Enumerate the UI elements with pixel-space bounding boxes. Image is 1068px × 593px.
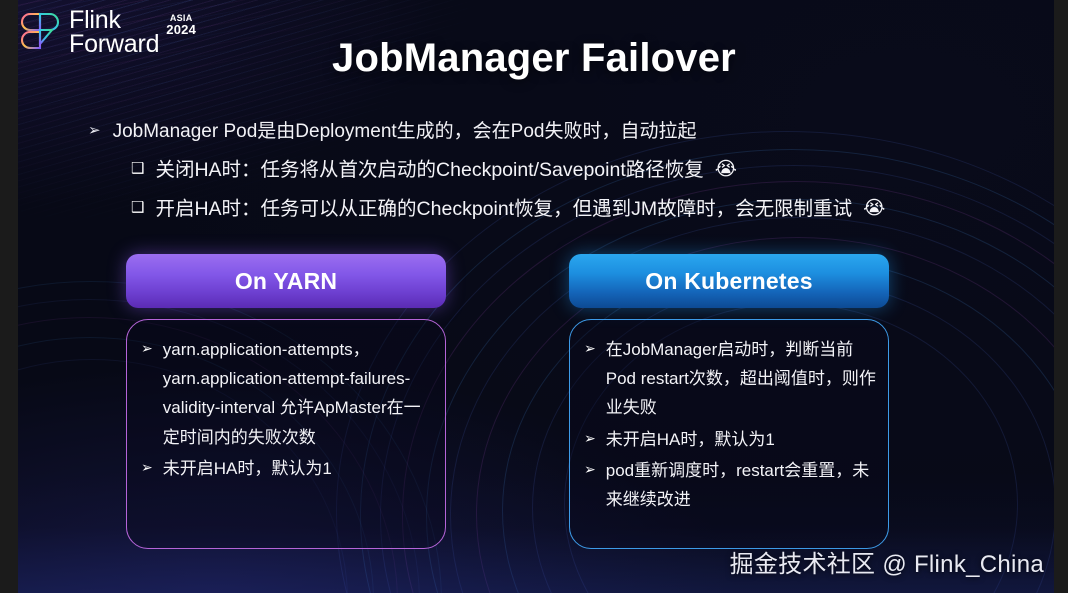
arrow-bullet-icon: ➢ [141,454,153,481]
bullet-level2: ❑ 开启HA时：任务可以从正确的Checkpoint恢复，但遇到JM故障时，会无… [131,197,1008,222]
list-item-text: yarn.application-attempts，yarn.applicati… [163,335,433,452]
arrow-bullet-icon: ➢ [141,335,153,362]
bullet-level2-text: 关闭HA时：任务将从首次启动的Checkpoint/Savepoint路径恢复 [155,158,703,183]
square-bullet-icon: ❑ [131,158,144,180]
crying-face-emoji-icon: 😭 [715,158,737,183]
column-body-yarn: ➢ yarn.application-attempts，yarn.applica… [126,319,446,549]
column-header-yarn: On YARN [126,254,446,308]
brand-badge: ASIA 2024 [166,14,196,36]
watermark: 掘金技术社区 @ Flink_China [730,544,1044,579]
bullet-level2: ❑ 关闭HA时：任务将从首次启动的Checkpoint/Savepoint路径恢… [131,158,1008,183]
bullet-level2-text: 开启HA时：任务可以从正确的Checkpoint恢复，但遇到JM故障时，会无限制… [155,197,852,222]
column-yarn: On YARN ➢ yarn.application-attempts，yarn… [126,254,446,549]
brand-badge-year: 2024 [166,23,196,36]
list-item: ➢ 在JobManager启动时，判断当前Pod restart次数，超出阈值时… [584,335,876,423]
column-kubernetes: On Kubernetes ➢ 在JobManager启动时，判断当前Pod r… [569,254,889,549]
bullet-level1: ➢ JobManager Pod是由Deployment生成的，会在Pod失败时… [88,120,1008,144]
arrow-bullet-icon: ➢ [584,425,596,452]
column-body-kubernetes: ➢ 在JobManager启动时，判断当前Pod restart次数，超出阈值时… [569,319,889,549]
page-title: JobManager Failover [0,36,1068,81]
slide-canvas: Flink Forward ASIA 2024 JobManager Failo… [0,0,1068,593]
list-item: ➢ 未开启HA时，默认为1 [584,425,876,454]
list-item-text: 在JobManager启动时，判断当前Pod restart次数，超出阈值时，则… [606,335,876,423]
list-item: ➢ yarn.application-attempts，yarn.applica… [141,335,433,452]
crying-face-emoji-icon: 😭 [863,197,885,222]
list-item-text: 未开启HA时，默认为1 [606,425,876,454]
list-item-text: pod重新调度时，restart会重置，未来继续改进 [606,456,876,514]
arrow-bullet-icon: ➢ [88,120,101,142]
bullet-level1-text: JobManager Pod是由Deployment生成的，会在Pod失败时，自… [113,120,697,144]
bullet-list: ➢ JobManager Pod是由Deployment生成的，会在Pod失败时… [88,120,1008,222]
list-item-text: 未开启HA时，默认为1 [163,454,433,483]
list-item: ➢ pod重新调度时，restart会重置，未来继续改进 [584,456,876,514]
brand-name-line1: Flink [69,8,159,32]
list-item: ➢ 未开启HA时，默认为1 [141,454,433,483]
right-edge-strip [1054,0,1068,593]
square-bullet-icon: ❑ [131,197,144,219]
arrow-bullet-icon: ➢ [584,335,596,362]
column-header-kubernetes: On Kubernetes [569,254,889,308]
arrow-bullet-icon: ➢ [584,456,596,483]
left-edge-strip [0,0,18,593]
